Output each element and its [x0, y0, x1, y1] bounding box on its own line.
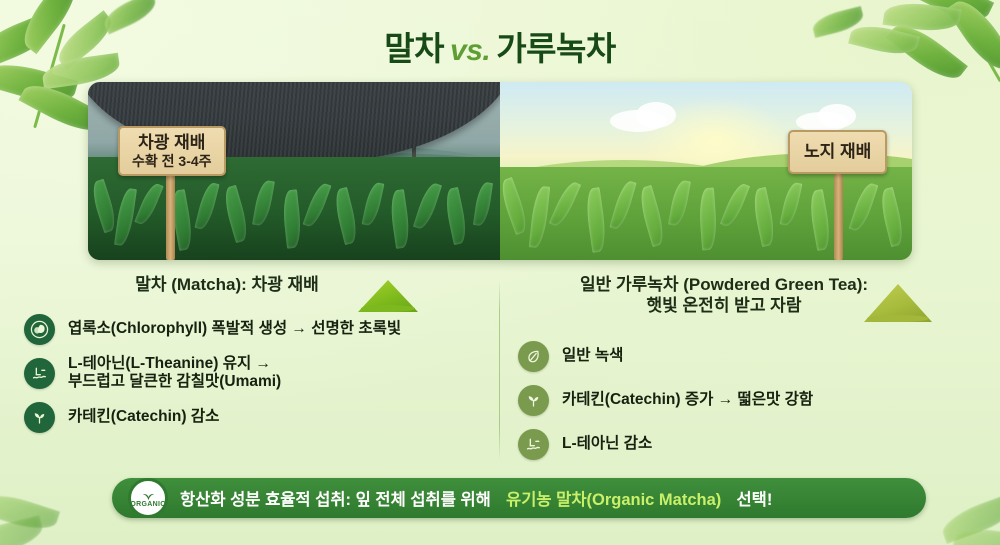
sign-open-field: 노지 재배	[788, 130, 887, 174]
sign-open-field-line1: 노지 재배	[804, 142, 871, 162]
comparison-columns: 말차 (Matcha): 차광 재배 엽록소(Chlorophyll) 폭발적 …	[0, 274, 1000, 474]
list-item-label: L-테아닌(L-Theanine) 유지 → 부드럽고 달큰한 감칠맛(Umam…	[68, 355, 281, 392]
sprout-icon	[24, 402, 55, 433]
organic-seal-icon: ORGANIC	[128, 478, 168, 518]
powdered-green-tea-bullet-list: 일반 녹색 카테킨(Catechin) 증가 → 떫은맛 강함	[512, 335, 982, 467]
list-item: L-테아닌(L-Theanine) 유지 → 부드럽고 달큰한 감칠맛(Umam…	[18, 351, 488, 395]
banner-message: 항산화 성분 효율적 섭취: 잎 전체 섭취를 위해ᅠ유기농 말차(Organi…	[180, 486, 772, 510]
powdered-green-tea-column: 일반 가루녹차 (Powdered Green Tea): 햇빛 온전히 받고 …	[512, 274, 982, 467]
sign-shaded-line2: 수확 전 3-4주	[132, 153, 212, 170]
list-item-label: L-테아닌 감소	[562, 435, 652, 453]
list-item: 엽록소(Chlorophyll) 폭발적 생성 → 선명한 초록빛	[18, 307, 488, 351]
shaded-cultivation-photo: 차광 재배 수확 전 3-4주	[88, 82, 500, 260]
powdered-green-tea-mound	[864, 280, 932, 322]
heading-line2: 햇빛 온전히 받고 자람	[647, 296, 802, 315]
banner-text-before: 항산화 성분 효율적 섭취: 잎 전체 섭취를 위해ᅠ	[180, 491, 506, 509]
list-item: 카테킨(Catechin) 증가 → 떫은맛 강함	[512, 379, 982, 423]
powder-base-shape	[361, 305, 415, 312]
bottom-banner: ORGANIC 항산화 성분 효율적 섭취: 잎 전체 섭취를 위해ᅠ유기농 말…	[112, 478, 926, 518]
matcha-bullet-list: 엽록소(Chlorophyll) 폭발적 생성 → 선명한 초록빛 L-테아닌(…	[18, 307, 488, 439]
title-left-term: 말차	[384, 30, 444, 67]
powder-base-shape	[867, 315, 929, 322]
cloud	[636, 102, 676, 128]
infographic-canvas: 말차vs.가루녹차	[0, 0, 1000, 545]
column-divider	[499, 280, 500, 460]
title-right-term: 가루녹차	[496, 30, 615, 67]
banner-text-after: ᅠ선택!	[721, 491, 772, 509]
open-field-cultivation-photo: 노지 재배	[500, 82, 912, 260]
list-item: 카테킨(Catechin) 감소	[18, 395, 488, 439]
matcha-column: 말차 (Matcha): 차광 재배 엽록소(Chlorophyll) 폭발적 …	[18, 274, 488, 439]
l-theanine-icon	[518, 429, 549, 460]
list-item-label: 엽록소(Chlorophyll) 폭발적 생성 → 선명한 초록빛	[68, 320, 401, 338]
comparison-images: 차광 재배 수확 전 3-4주	[88, 82, 912, 260]
page-title: 말차vs.가루녹차	[0, 22, 1000, 70]
list-item-label: 카테킨(Catechin) 증가 → 떫은맛 강함	[562, 391, 813, 409]
list-item-label: 카테킨(Catechin) 감소	[68, 408, 219, 426]
sign-shaded-line1: 차광 재배	[132, 133, 212, 153]
title-vs: vs.	[444, 34, 496, 67]
cloud	[818, 104, 856, 128]
sign-shaded: 차광 재배 수확 전 3-4주	[118, 126, 226, 176]
matcha-powder-mound	[358, 276, 418, 312]
list-item: 일반 녹색	[512, 335, 982, 379]
sprout-icon	[518, 385, 549, 416]
list-item-label: 일반 녹색	[562, 347, 623, 365]
list-item-label-line1: L-테아닌(L-Theanine) 유지 →	[68, 355, 281, 373]
list-item: L-테아닌 감소	[512, 423, 982, 467]
leaf-pair-icon	[24, 314, 55, 345]
heading-line1: 일반 가루녹차 (Powdered Green Tea):	[580, 275, 868, 294]
single-leaf-icon	[518, 341, 549, 372]
list-item-label-line2: 부드럽고 달큰한 감칠맛(Umami)	[68, 373, 281, 391]
organic-seal-word: ORGANIC	[130, 501, 165, 508]
banner-text-highlight: 유기농 말차(Organic Matcha)	[506, 491, 721, 509]
l-theanine-icon	[24, 358, 55, 389]
